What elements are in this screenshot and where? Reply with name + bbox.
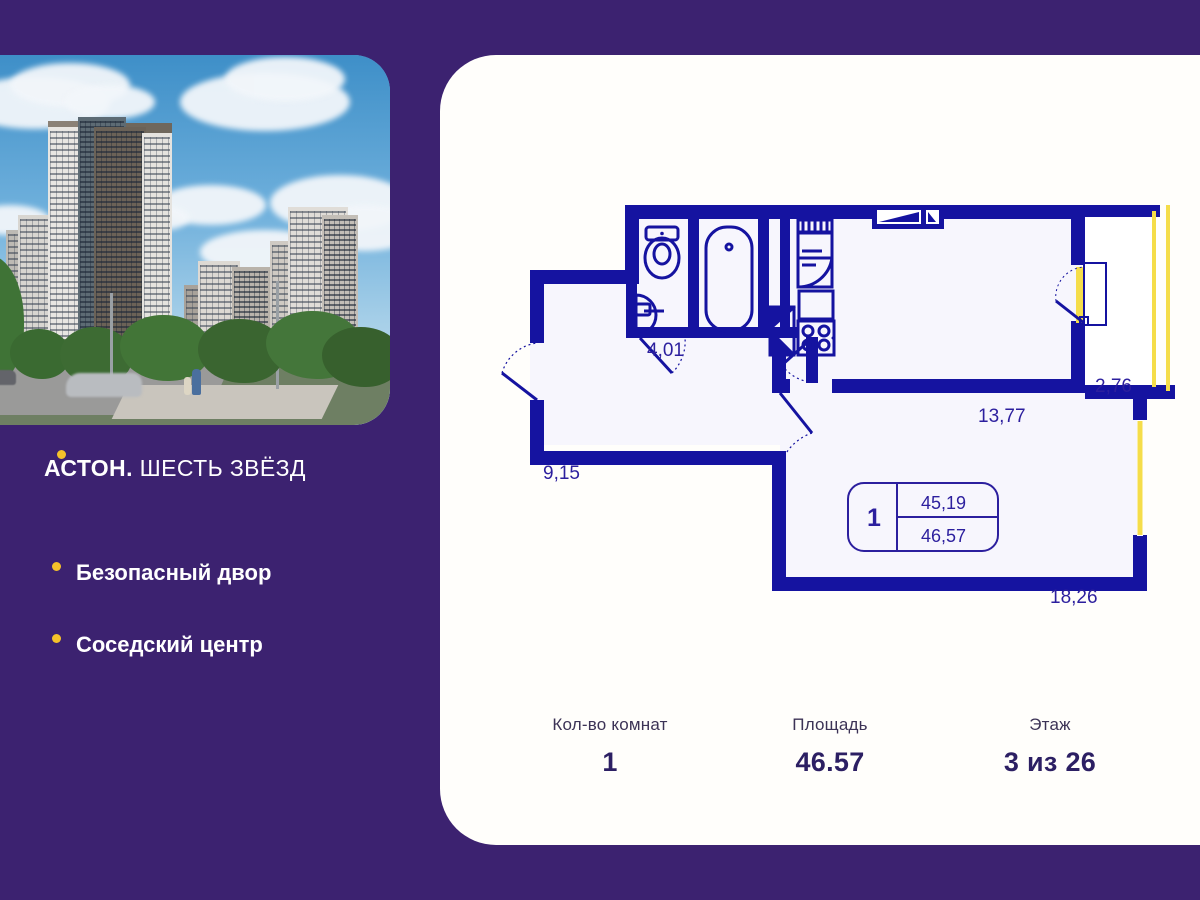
room-area-living-room: 18,26 xyxy=(1050,587,1098,608)
apartment-stats: Кол-во комнат 1 Площадь 46.57 Этаж 3 из … xyxy=(500,715,1160,825)
brand-name: АСТОН xyxy=(44,455,126,481)
stat-rooms: Кол-во комнат 1 xyxy=(500,715,720,778)
cloud xyxy=(225,57,345,101)
living-window-glazing xyxy=(1137,420,1143,536)
window-icon xyxy=(872,205,944,229)
stat-area-label: Площадь xyxy=(720,715,940,735)
room-area-balcony: 2,76 xyxy=(1095,376,1132,397)
left-panel: АСТОН. ШЕСТЬ ЗВЁЗД Безопасный двор Сосед… xyxy=(0,0,440,900)
pedestrian xyxy=(184,377,191,395)
feature-bullet-icon xyxy=(52,634,61,643)
sidewalk xyxy=(112,385,339,419)
moving-car xyxy=(66,373,142,397)
street-lamp xyxy=(110,293,113,385)
cloud xyxy=(65,85,155,119)
parked-car xyxy=(0,370,16,385)
room-area-bathroom: 4,01 xyxy=(647,340,684,361)
feature-bullet-icon xyxy=(52,562,61,571)
feature-item-1: Соседский центр xyxy=(76,632,263,658)
room-area-hallway: 9,15 xyxy=(543,463,580,484)
stat-floor-label: Этаж xyxy=(940,715,1160,735)
badge-rooms: 1 xyxy=(867,504,881,532)
room-area-kitchen-living: 13,77 xyxy=(978,406,1026,427)
badge-area-total: 46,57 xyxy=(921,526,966,546)
stat-rooms-value: 1 xyxy=(500,747,720,778)
pedestrian xyxy=(192,369,201,395)
stat-floor: Этаж 3 из 26 xyxy=(940,715,1160,778)
badge-area-living: 45,19 xyxy=(921,493,966,513)
cabinet-icon xyxy=(798,220,832,232)
stat-area-value: 46.57 xyxy=(720,747,940,778)
floorplan-card: 4,01 9,15 13,77 2,76 18,26 1 45,19 xyxy=(440,55,1200,845)
floorplan-diagram: 4,01 9,15 13,77 2,76 18,26 1 45,19 xyxy=(440,55,1200,695)
plan-summary-badge: 1 45,19 46,57 xyxy=(848,483,998,551)
feature-item-0: Безопасный двор xyxy=(76,560,271,586)
brand-separator: . xyxy=(126,455,140,481)
stat-area: Площадь 46.57 xyxy=(720,715,940,778)
stat-floor-value: 3 из 26 xyxy=(940,747,1160,778)
brand-subtitle: ШЕСТЬ ЗВЁЗД xyxy=(140,455,306,481)
brand-title: АСТОН. ШЕСТЬ ЗВЁЗД xyxy=(44,455,424,482)
building-photo xyxy=(0,55,390,425)
stat-rooms-label: Кол-во комнат xyxy=(500,715,720,735)
